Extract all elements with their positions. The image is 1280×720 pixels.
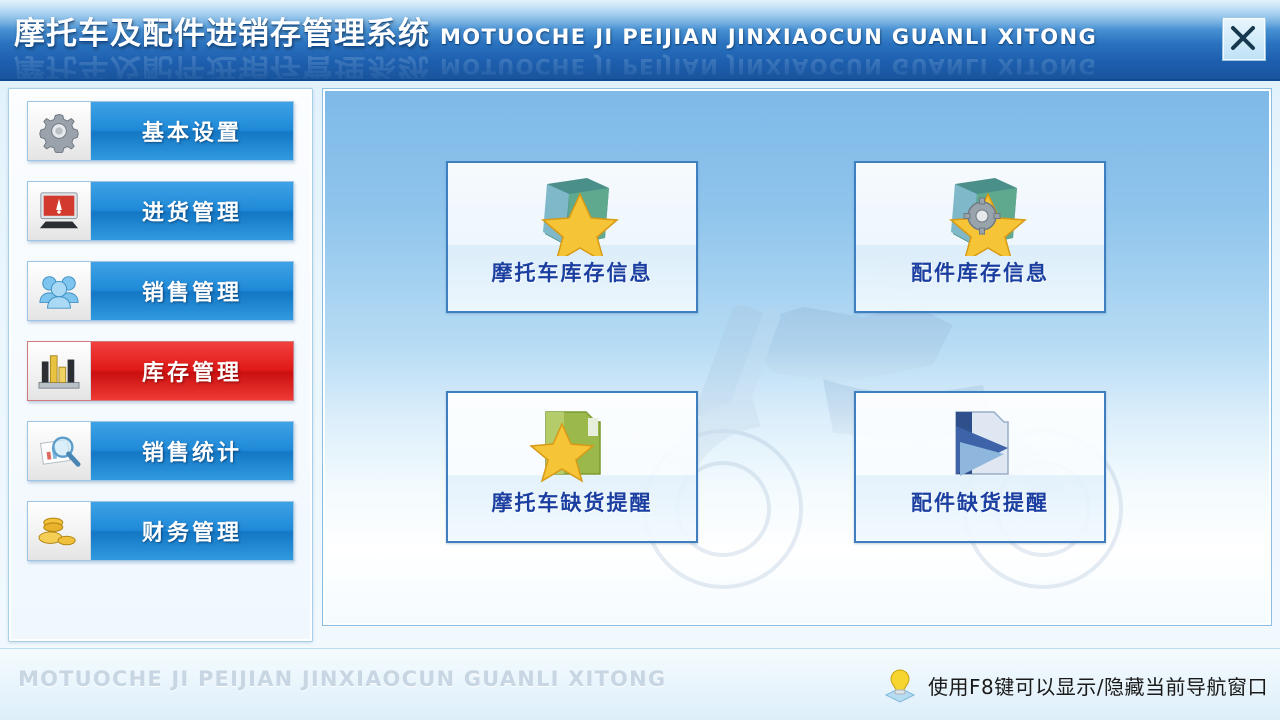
card-label: 摩托车缺货提醒 (492, 487, 653, 517)
blue-folder-icon (930, 401, 1030, 487)
title-reflection-pinyin: MOTUOCHE JI PEIJIAN JINXIAOCUN GUANLI XI… (440, 54, 1097, 78)
status-bar: MOTUOCHE JI PEIJIAN JINXIAOCUN GUANLI XI… (0, 648, 1280, 720)
close-button[interactable] (1222, 17, 1266, 61)
sidebar-item-label: 库存管理 (91, 342, 293, 400)
sidebar-item-label: 销售统计 (91, 422, 293, 480)
users-icon (28, 262, 91, 320)
title-text-group: 摩托车及配件进销存管理系统 MOTUOCHE JI PEIJIAN JINXIA… (14, 8, 1097, 53)
lightbulb-icon (880, 665, 920, 705)
sidebar-item-label: 财务管理 (91, 502, 293, 560)
sidebar-item-label: 销售管理 (91, 262, 293, 320)
close-icon (1223, 18, 1263, 58)
sidebar-item-inventory-management[interactable]: 库存管理 (27, 341, 294, 401)
card-label: 配件缺货提醒 (911, 487, 1049, 517)
sidebar-item-label: 基本设置 (91, 102, 293, 160)
sidebar-item-sales-statistics[interactable]: 销售统计 (27, 421, 294, 481)
sidebar-item-finance-management[interactable]: 财务管理 (27, 501, 294, 561)
application-window: 摩托车及配件进销存管理系统 MOTUOCHE JI PEIJIAN JINXIA… (0, 0, 1280, 720)
title-bar: 摩托车及配件进销存管理系统 MOTUOCHE JI PEIJIAN JINXIA… (0, 0, 1280, 81)
gear-icon (28, 102, 91, 160)
title-reflection-cn: 摩托车及配件进销存管理系统 (14, 50, 430, 81)
sidebar-item-sales-management[interactable]: 销售管理 (27, 261, 294, 321)
monitor-alert-icon (28, 182, 91, 240)
hint-text: 使用F8键可以显示/隐藏当前导航窗口 (928, 671, 1268, 700)
main-content-panel: 摩托车库存信息 (322, 88, 1272, 626)
navigation-sidebar: 基本设置 进货管理 (8, 88, 313, 642)
green-folder-star-icon (522, 401, 622, 487)
sidebar-item-purchase-management[interactable]: 进货管理 (27, 181, 294, 241)
card-label: 摩托车库存信息 (492, 257, 653, 287)
card-motorcycle-inventory-info[interactable]: 摩托车库存信息 (446, 161, 698, 313)
box-star-gear-icon (925, 171, 1035, 257)
card-grid: 摩托车库存信息 (323, 89, 1271, 625)
sidebar-item-basic-settings[interactable]: 基本设置 (27, 101, 294, 161)
card-parts-inventory-info[interactable]: 配件库存信息 (854, 161, 1106, 313)
bar-chart-icon (28, 342, 91, 400)
status-pinyin-text: MOTUOCHE JI PEIJIAN JINXIAOCUN GUANLI XI… (18, 667, 666, 691)
hint-group: 使用F8键可以显示/隐藏当前导航窗口 (880, 665, 1268, 705)
app-title-pinyin: MOTUOCHE JI PEIJIAN JINXIAOCUN GUANLI XI… (440, 25, 1097, 49)
card-motorcycle-stock-alert[interactable]: 摩托车缺货提醒 (446, 391, 698, 543)
box-star-icon (517, 171, 627, 257)
app-title-chinese: 摩托车及配件进销存管理系统 (14, 8, 430, 53)
magnifier-chart-icon (28, 422, 91, 480)
title-reflection: 摩托车及配件进销存管理系统 MOTUOCHE JI PEIJIAN JINXIA… (14, 50, 1097, 81)
card-parts-stock-alert[interactable]: 配件缺货提醒 (854, 391, 1106, 543)
sidebar-item-label: 进货管理 (91, 182, 293, 240)
card-label: 配件库存信息 (911, 257, 1049, 287)
coins-icon (28, 502, 91, 560)
